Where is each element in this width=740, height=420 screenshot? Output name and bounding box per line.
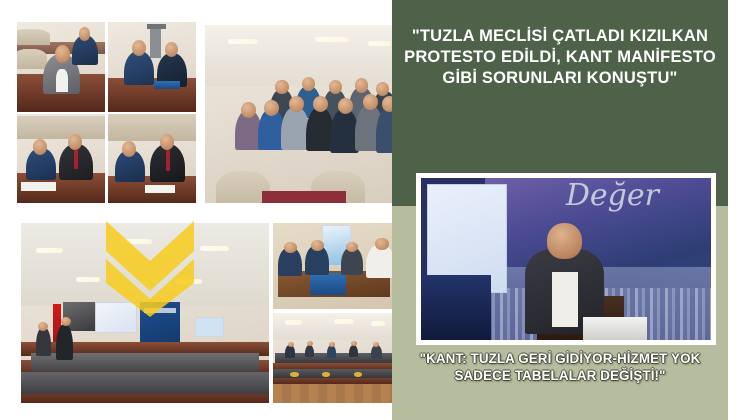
- page-title: "TUZLA MECLİSİ ÇATLADI KIZILKAN PROTESTO…: [400, 26, 720, 89]
- photo-collage: [0, 0, 398, 420]
- photo-caption: "KANT: TUZLA GERİ GİDİYOR-HİZMET YOK SAD…: [396, 350, 724, 385]
- collage-photo-council-members-seated-pair: [17, 114, 105, 203]
- main-photo-frame: Değer: [416, 173, 716, 345]
- collage-photo-audience-seated: [205, 25, 395, 203]
- collage-photo-council-session-overview: [273, 313, 395, 403]
- collage-photo-council-members-red-tie: [108, 114, 196, 203]
- collage-photo-council-members-desk: [108, 22, 196, 112]
- headline-panel: "TUZLA MECLİSİ ÇATLADI KIZILKAN PROTESTO…: [392, 0, 728, 420]
- collage-photo-meeting-table-group: [273, 223, 395, 309]
- main-photo-speaker-at-podium: Değer: [421, 178, 711, 340]
- news-banner: "TUZLA MECLİSİ ÇATLADI KIZILKAN PROTESTO…: [0, 0, 740, 420]
- double-chevron-logo: [106, 221, 194, 317]
- collage-photo-council-member-smiling: [17, 22, 105, 112]
